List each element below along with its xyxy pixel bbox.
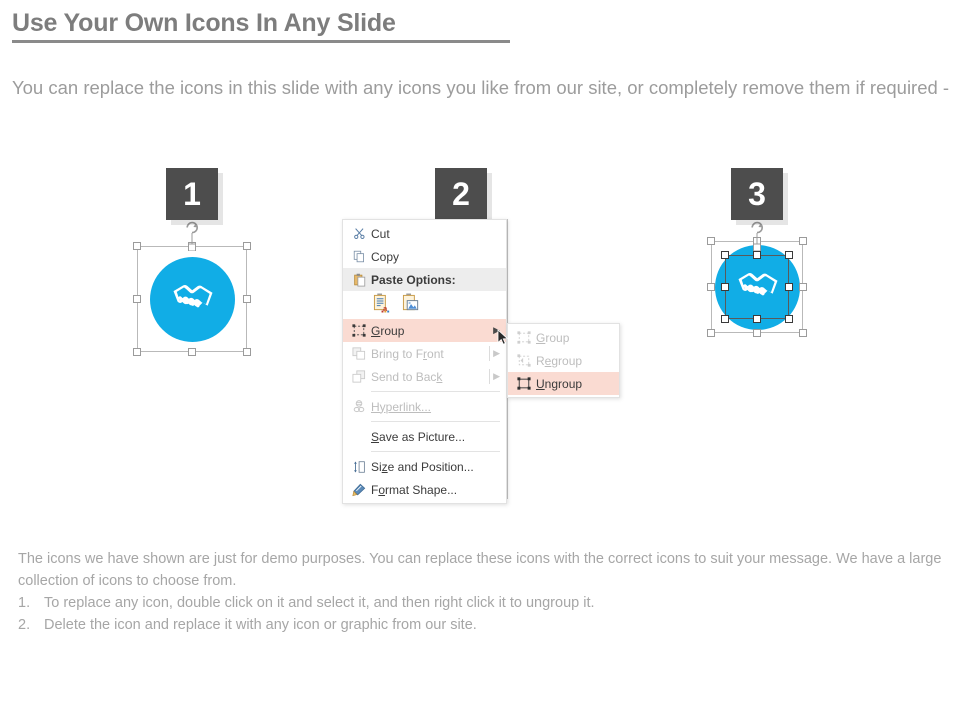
group-submenu[interactable]: Group Regroup (507, 323, 620, 398)
inner-handle-w[interactable] (721, 283, 729, 291)
resize-handle-w[interactable] (707, 283, 715, 291)
paste-keep-source-formatting-icon[interactable]: a (373, 293, 392, 318)
menu-item-bring-to-front: Bring to Front ▶ (343, 342, 506, 365)
menu-divider (489, 346, 490, 361)
inner-handle-ne[interactable] (785, 251, 793, 259)
selection-outline-1 (137, 246, 247, 352)
hyperlink-icon (347, 400, 371, 413)
resize-handle-ne[interactable] (243, 242, 251, 250)
regroup-icon (512, 354, 536, 367)
title-underline (12, 40, 510, 43)
menu-separator (371, 421, 500, 422)
menu-item-label: Cut (371, 227, 506, 241)
mouse-cursor-icon (497, 329, 509, 351)
inner-handle-s[interactable] (753, 315, 761, 323)
page-title-block: Use Your Own Icons In Any Slide (12, 8, 510, 43)
submenu-item-label: Regroup (536, 354, 619, 368)
page-title: Use Your Own Icons In Any Slide (12, 8, 510, 38)
menu-item-size-and-position[interactable]: Size and Position... (343, 455, 506, 478)
resize-handle-ne[interactable] (799, 237, 807, 245)
menu-item-label: Paste Options: (371, 273, 506, 287)
inner-handle-sw[interactable] (721, 315, 729, 323)
list-item-text: To replace any icon, double click on it … (44, 592, 595, 614)
menu-item-cut[interactable]: Cut (343, 222, 506, 245)
format-shape-icon (347, 483, 371, 497)
resize-handle-s[interactable] (188, 348, 196, 356)
resize-handle-s[interactable] (753, 329, 761, 337)
step-badge-3: 3 (731, 168, 783, 220)
chevron-right-icon: ▶ (493, 371, 500, 382)
menu-item-send-to-back: Send to Back ▶ (343, 365, 506, 388)
resize-handle-e[interactable] (799, 283, 807, 291)
menu-item-label: Bring to Front (371, 347, 493, 361)
bring-to-front-icon (347, 347, 371, 360)
notes-list: 1. To replace any icon, double click on … (18, 592, 948, 636)
group-icon (512, 331, 536, 344)
group-icon (347, 324, 371, 337)
scissors-icon (347, 227, 371, 240)
submenu-item-label: Ungroup (536, 377, 619, 391)
resize-handle-sw[interactable] (707, 329, 715, 337)
paste-picture-icon[interactable] (402, 293, 421, 318)
menu-item-label: Hyperlink... (371, 400, 506, 414)
rotation-handle-icon-3[interactable] (748, 221, 766, 251)
list-item-number: 1. (18, 592, 44, 614)
list-item-text: Delete the icon and replace it with any … (44, 614, 477, 636)
resize-handle-nw[interactable] (707, 237, 715, 245)
copy-icon (347, 250, 371, 263)
context-menu[interactable]: Cut Copy Paste Options: (342, 219, 507, 504)
bottom-notes: The icons we have shown are just for dem… (18, 548, 948, 636)
menu-item-label: Copy (371, 250, 506, 264)
resize-handle-sw[interactable] (133, 348, 141, 356)
selection-box-3[interactable] (711, 241, 803, 333)
menu-separator (371, 391, 500, 392)
resize-handle-se[interactable] (799, 329, 807, 337)
page-subtitle: You can replace the icons in this slide … (12, 74, 957, 102)
list-item: 2. Delete the icon and replace it with a… (18, 614, 948, 636)
menu-item-save-as-picture[interactable]: Save as Picture... (343, 425, 506, 448)
menu-item-copy[interactable]: Copy (343, 245, 506, 268)
submenu-item-ungroup[interactable]: Ungroup (508, 372, 619, 395)
menu-item-hyperlink: Hyperlink... (343, 395, 506, 418)
menu-item-label: Save as Picture... (371, 430, 506, 444)
menu-divider (489, 369, 490, 384)
submenu-item-label: Group (536, 331, 619, 345)
inner-handle-n[interactable] (753, 251, 761, 259)
inner-selection-outline-3 (725, 255, 789, 319)
menu-item-label: Size and Position... (371, 460, 506, 474)
notes-paragraph: The icons we have shown are just for dem… (18, 548, 948, 592)
list-item: 1. To replace any icon, double click on … (18, 592, 948, 614)
list-item-number: 2. (18, 614, 44, 636)
submenu-item-group: Group (508, 326, 619, 349)
size-position-icon (347, 460, 371, 474)
resize-handle-se[interactable] (243, 348, 251, 356)
inner-handle-nw[interactable] (721, 251, 729, 259)
clipboard-icon (347, 273, 371, 287)
menu-separator (371, 451, 500, 452)
inner-handle-e[interactable] (785, 283, 793, 291)
resize-handle-nw[interactable] (133, 242, 141, 250)
menu-item-group[interactable]: Group ▶ (343, 319, 506, 342)
selection-box-1[interactable] (137, 246, 247, 352)
menu-item-paste-options: Paste Options: (343, 268, 506, 291)
slide-canvas: Use Your Own Icons In Any Slide You can … (0, 0, 960, 720)
menu-item-format-shape[interactable]: Format Shape... (343, 478, 506, 501)
step-badge-2: 2 (435, 168, 487, 220)
ungroup-icon (512, 377, 536, 390)
submenu-item-regroup: Regroup (508, 349, 619, 372)
paste-options-row[interactable]: a (343, 291, 506, 319)
send-to-back-icon (347, 370, 371, 383)
menu-item-label: Group (371, 324, 493, 338)
resize-handle-w[interactable] (133, 295, 141, 303)
menu-item-label: Send to Back (371, 370, 493, 384)
rotation-handle-icon-1[interactable] (183, 221, 201, 251)
step-badge-1: 1 (166, 168, 218, 220)
inner-handle-se[interactable] (785, 315, 793, 323)
resize-handle-e[interactable] (243, 295, 251, 303)
menu-item-label: Format Shape... (371, 483, 506, 497)
